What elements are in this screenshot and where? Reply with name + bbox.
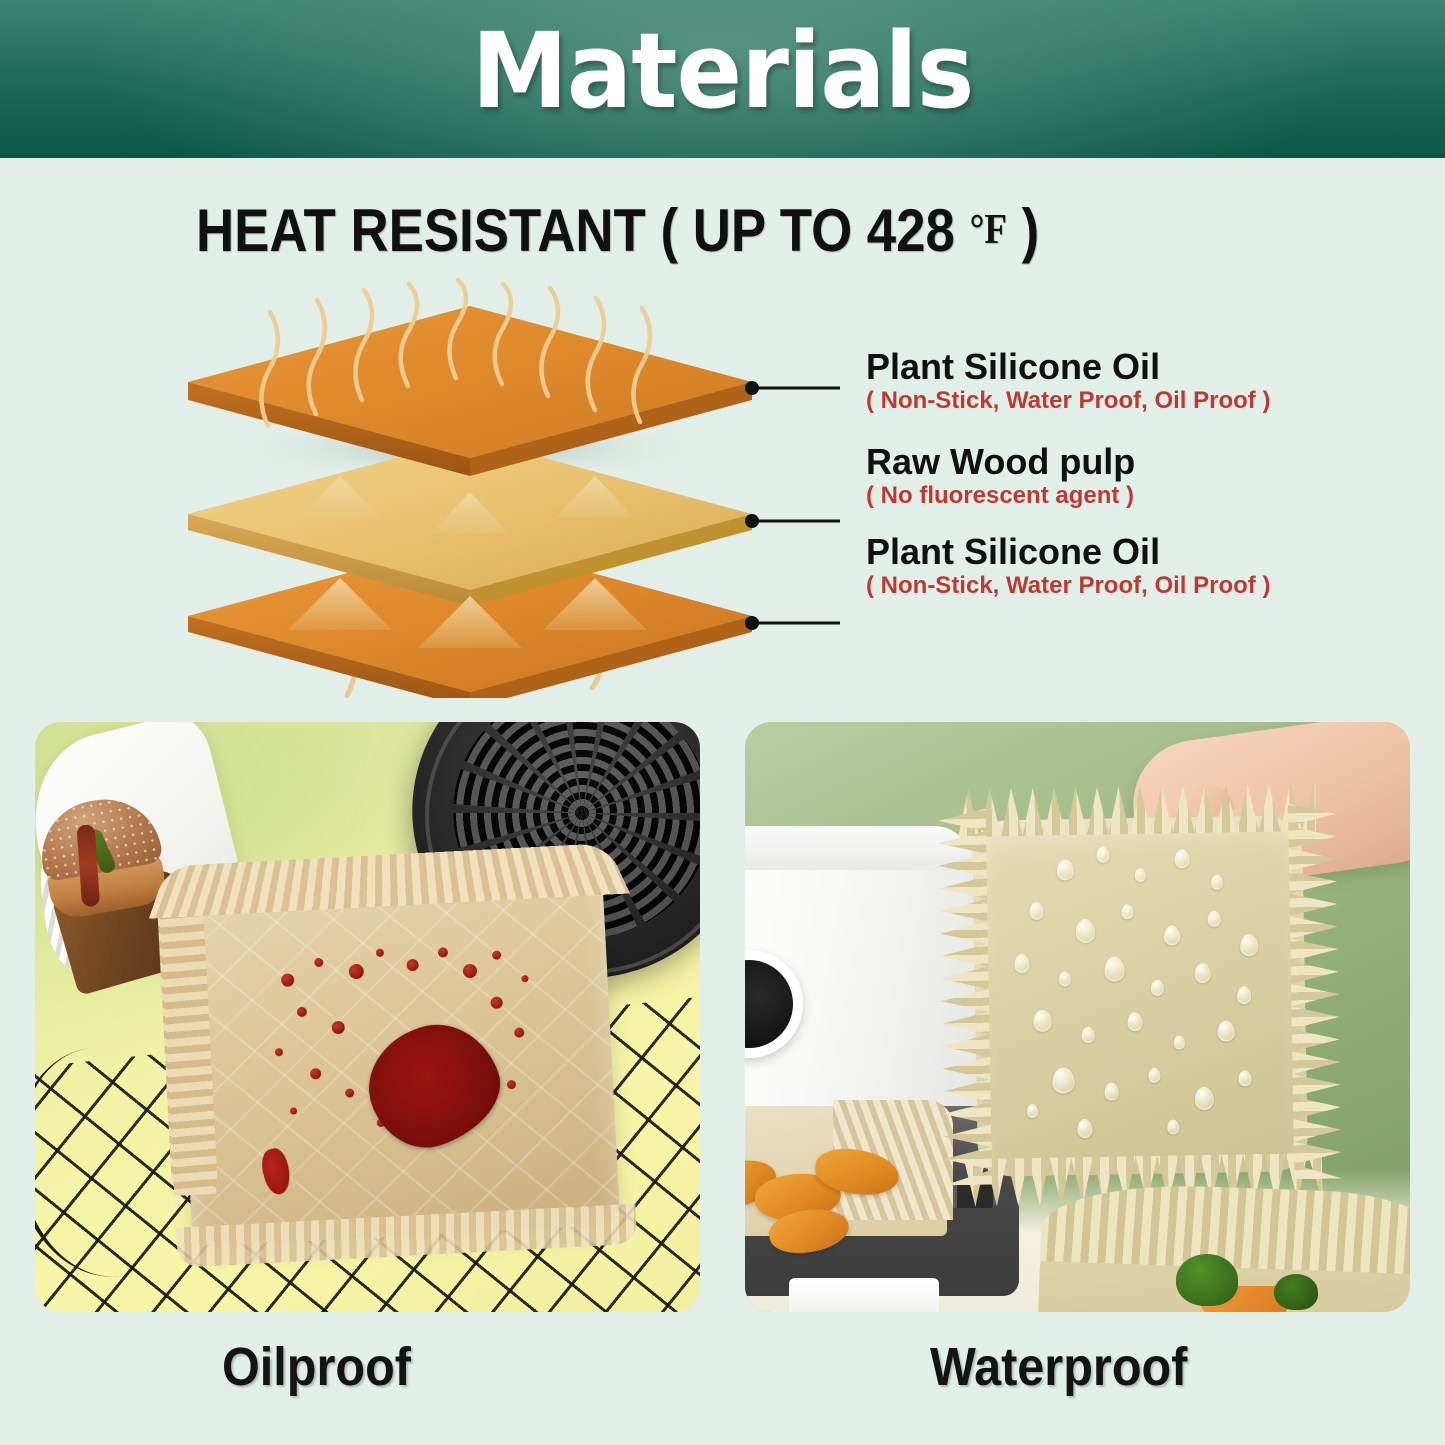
header-banner: Materials (0, 0, 1445, 158)
heat-heading-suffix: ) (1007, 197, 1039, 264)
liner-with-water-beads (937, 781, 1342, 1208)
callout-layer-3: Plant Silicone Oil ( Non-Stick, Water Pr… (866, 533, 1336, 600)
callout-subtitle: ( Non-Stick, Water Proof, Oil Proof ) (866, 388, 1336, 414)
degree-fahrenheit-icon: °F (970, 207, 1007, 253)
leader-lines (745, 381, 840, 630)
caption-waterproof: Waterproof (930, 1336, 1187, 1398)
waterproof-scene (745, 722, 1410, 1312)
photo-waterproof (745, 722, 1410, 1312)
parchment-liner-stained (157, 838, 637, 1262)
air-fryer-foot (789, 1278, 939, 1312)
callout-layer-1: Plant Silicone Oil ( Non-Stick, Water Pr… (866, 348, 1336, 415)
callout-title: Raw Wood pulp (866, 443, 1336, 481)
heat-resistant-heading: HEAT RESISTANT ( UP TO 428 °F ) (196, 196, 1039, 265)
photo-row (0, 722, 1445, 1312)
layer-diagram-svg (140, 278, 840, 698)
callout-layer-2: Raw Wood pulp ( No fluorescent agent ) (866, 443, 1336, 510)
liner-frill-right (1288, 803, 1343, 1180)
caption-oilproof: Oilproof (222, 1336, 411, 1398)
page-title: Materials (51, 12, 1395, 132)
layer-diagram (140, 278, 840, 698)
broccoli-floret (1274, 1274, 1318, 1310)
callout-title: Plant Silicone Oil (866, 348, 1336, 386)
oilproof-scene (35, 722, 700, 1312)
liner-frill-top (957, 783, 1316, 837)
callout-subtitle: ( Non-Stick, Water Proof, Oil Proof ) (866, 573, 1336, 599)
photo-oilproof (35, 722, 700, 1312)
broccoli-floret (1176, 1254, 1238, 1306)
callout-subtitle: ( No fluorescent agent ) (866, 483, 1336, 509)
liner-frill-left (938, 809, 993, 1186)
callout-title: Plant Silicone Oil (866, 533, 1336, 571)
heat-heading-prefix: HEAT RESISTANT ( UP TO 428 (196, 197, 970, 264)
